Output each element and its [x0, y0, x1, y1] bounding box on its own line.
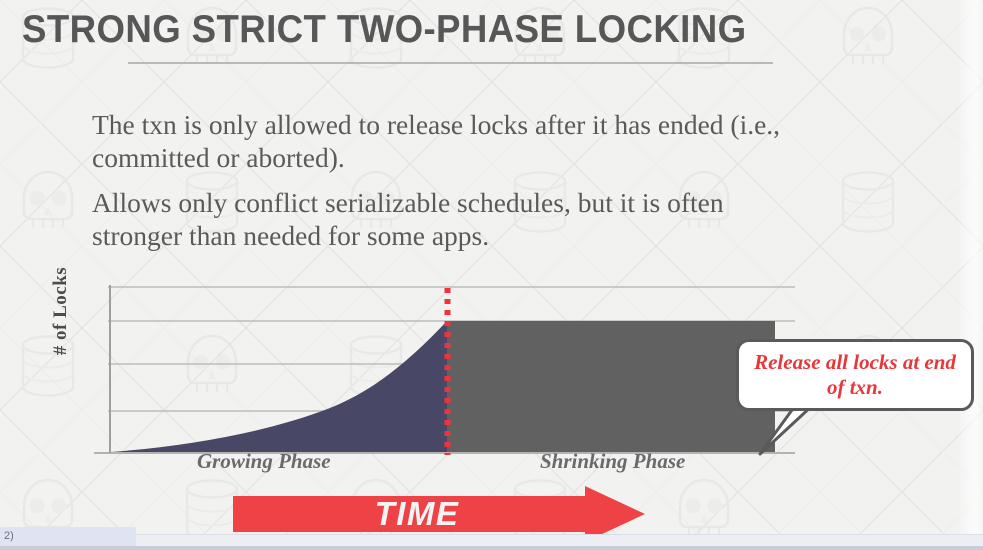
- chart-phase-label-growing: Growing Phase: [197, 449, 331, 474]
- shrinking-phase-area: [447, 321, 775, 452]
- chart-y-axis-label: # of Locks: [50, 236, 72, 386]
- background-watermark: [0, 0, 983, 534]
- callout-tail: [752, 404, 822, 456]
- chart-phase-label-shrinking: Shrinking Phase: [540, 449, 685, 474]
- callout-release-locks: Release all locks at end of txn.: [736, 339, 974, 411]
- time-arrow-label: TIME: [233, 486, 645, 534]
- slide-edge-sheen: [957, 0, 983, 534]
- page-title: STRONG STRICT TWO-PHASE LOCKING: [22, 8, 746, 52]
- bullet-1: The txn is only allowed to release locks…: [92, 108, 812, 174]
- lock-count-chart: [0, 0, 983, 534]
- bullet-2: Allows only conflict serializable schedu…: [92, 186, 812, 252]
- title-underline-rule: [128, 62, 773, 64]
- body-text-block: The txn is only allowed to release locks…: [92, 108, 812, 264]
- viewer-status-chip[interactable]: 2): [0, 527, 136, 546]
- viewer-bottom-bar: [0, 546, 983, 550]
- slide-canvas: STRONG STRICT TWO-PHASE LOCKING The txn …: [0, 0, 983, 534]
- chart-gridlines: [108, 287, 795, 411]
- growing-phase-area: [111, 321, 447, 452]
